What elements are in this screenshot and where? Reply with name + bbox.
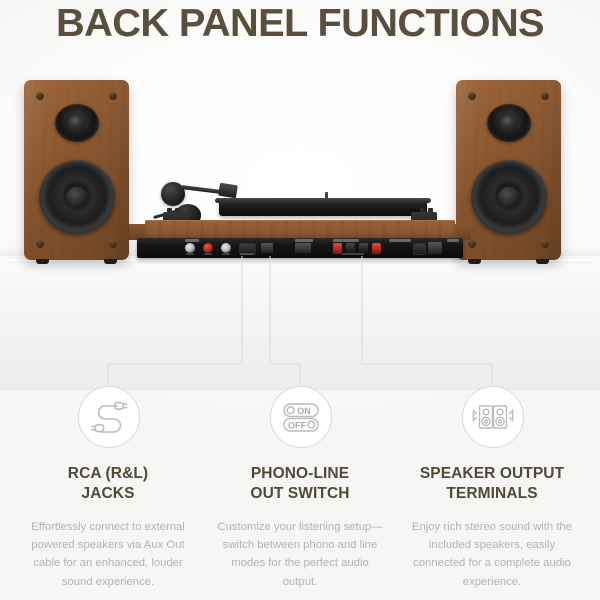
- tonearm-headshell: [218, 183, 238, 199]
- panel-label-mark: [389, 239, 411, 242]
- speaker-tweeter: [487, 104, 531, 142]
- callout-body: Enjoy rich stereo sound with the include…: [392, 518, 592, 591]
- leader-line-rca: [108, 256, 242, 384]
- speaker-screw-icon: [541, 240, 549, 248]
- panel-label-mark: [447, 239, 459, 242]
- callout-heading-line1: RCA (R&L): [68, 465, 148, 482]
- speaker-woofer: [471, 160, 547, 234]
- speaker-screw-icon: [36, 92, 44, 100]
- switch-off-label: OFF: [288, 421, 306, 431]
- callout-heading-line2: OUT SWITCH: [250, 485, 349, 502]
- on-off-switch-icon: ON OFF: [284, 404, 318, 431]
- infographic-canvas: BACK PANEL FUNCTIONS: [0, 0, 600, 600]
- callout-column-switch: PHONO-LINE OUT SWITCH Customize your lis…: [200, 464, 400, 591]
- callout-body: Customize your listening setup—switch be…: [200, 518, 400, 591]
- speaker-screw-icon: [541, 92, 549, 100]
- rca-cable-icon: [92, 403, 127, 432]
- callout-heading: PHONO-LINE OUT SWITCH: [200, 464, 400, 504]
- callout-heading: RCA (R&L) JACKS: [8, 464, 208, 504]
- callout-heading-line2: JACKS: [81, 485, 134, 502]
- speaker-tweeter: [55, 104, 99, 142]
- switch-on-label: ON: [297, 406, 311, 416]
- panel-label-mark: [295, 239, 313, 242]
- tonearm-tube: [181, 185, 223, 194]
- panel-label-mark: [333, 239, 359, 242]
- speaker-screw-icon: [36, 240, 44, 248]
- speaker-left: [24, 80, 129, 260]
- callout-column-rca: RCA (R&L) JACKS Effortlessly connect to …: [8, 464, 208, 591]
- turntable-platter: [219, 200, 427, 216]
- callout-heading-line1: SPEAKER OUTPUT: [420, 465, 564, 482]
- turntable: [145, 172, 455, 260]
- callout-column-terminals: SPEAKER OUTPUT TERMINALS Enjoy rich ster…: [392, 464, 592, 591]
- leader-line-terminals: [362, 256, 492, 384]
- speaker-woofer: [39, 160, 115, 234]
- speaker-screw-icon: [468, 240, 476, 248]
- callout-circle-terminals[interactable]: [462, 386, 524, 448]
- callout-circle-rca[interactable]: [78, 386, 140, 448]
- speaker-screw-icon: [468, 92, 476, 100]
- panel-label-mark: [185, 239, 199, 242]
- callout-circle-switch[interactable]: ON OFF: [270, 386, 332, 448]
- callout-heading: SPEAKER OUTPUT TERMINALS: [392, 464, 592, 504]
- callout-heading-line2: TERMINALS: [446, 485, 537, 502]
- stereo-speakers-icon: [473, 406, 512, 428]
- speaker-right: [456, 80, 561, 260]
- callout-heading-line1: PHONO-LINE: [251, 465, 349, 482]
- leader-line-switch: [270, 256, 300, 384]
- speaker-screw-icon: [109, 240, 117, 248]
- callout-body: Effortlessly connect to external powered…: [8, 518, 208, 591]
- speaker-screw-icon: [109, 92, 117, 100]
- page-title: BACK PANEL FUNCTIONS: [0, 2, 600, 46]
